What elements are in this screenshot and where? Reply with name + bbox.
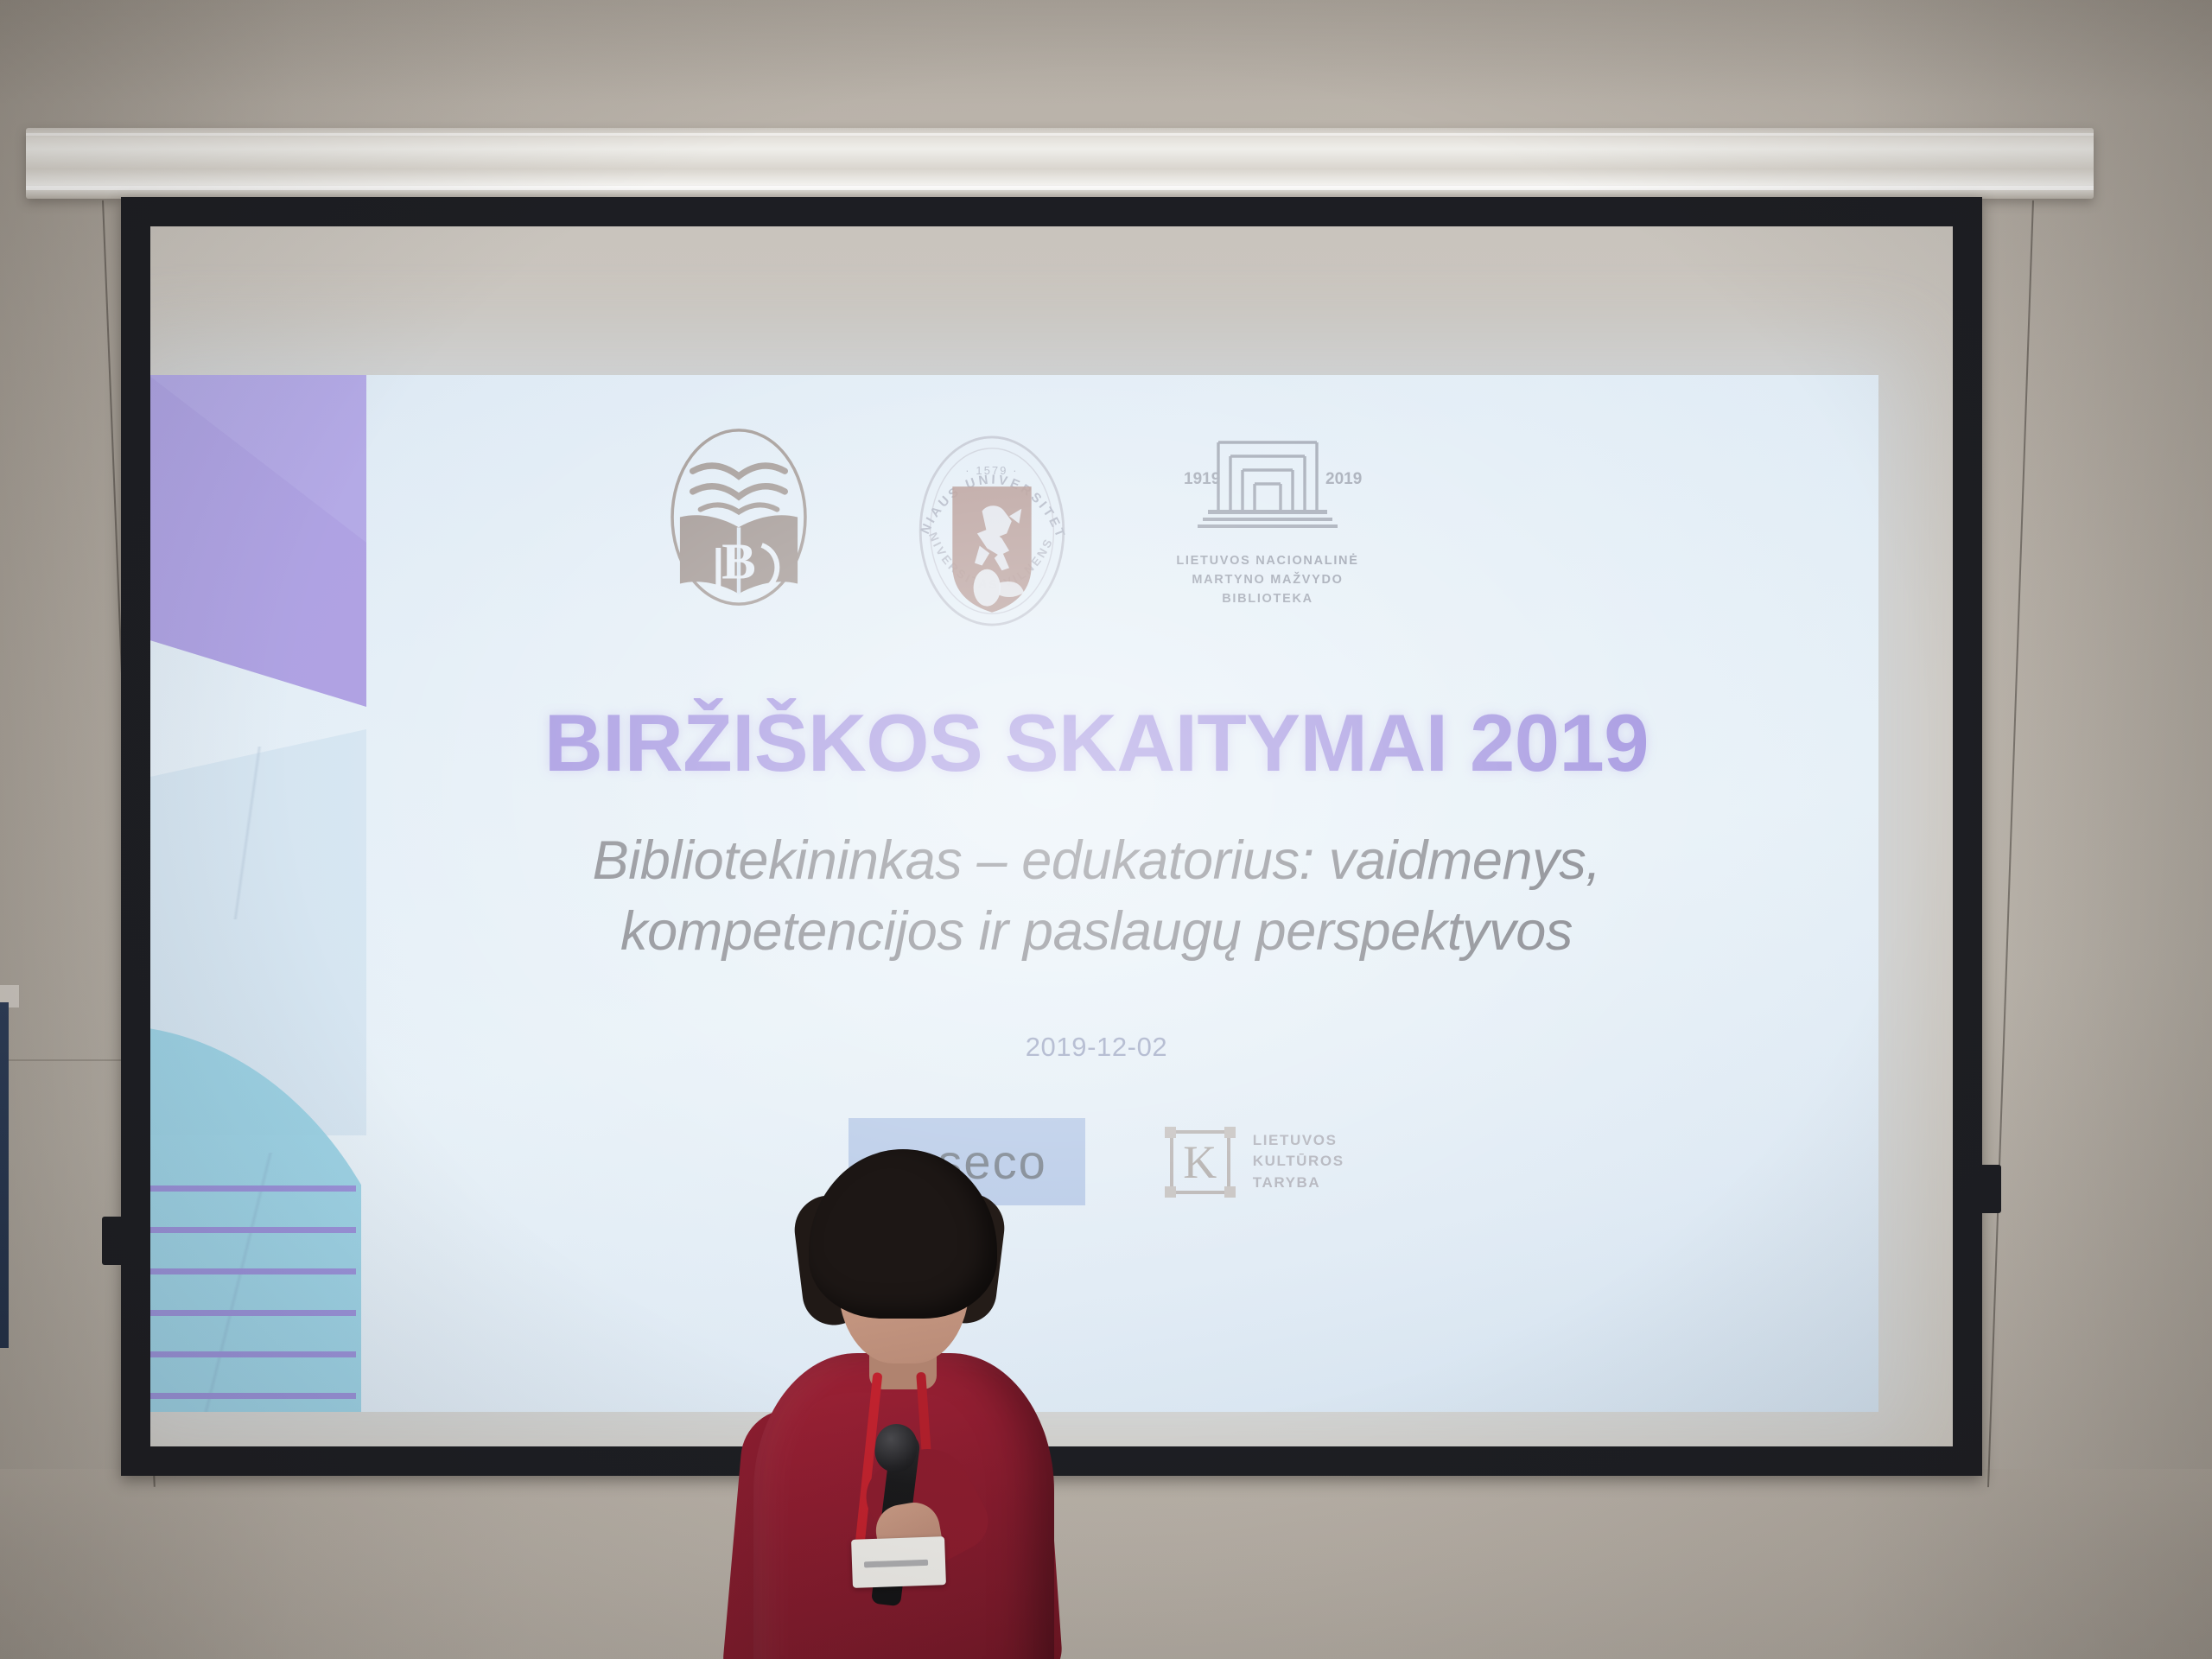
conference-room-photo: B: [0, 0, 2212, 1659]
wall-lower-band: [0, 1469, 2212, 1659]
svg-text:· 1579 ·: · 1579 ·: [965, 464, 1018, 477]
slide-subtitle-line1: Bibliotekininkas – edukatorius: vaidmeny…: [384, 826, 1809, 897]
slide-sponsor-row: asseco K: [366, 1118, 1827, 1205]
lkt-caption: LIETUVOS KULTŪROS TARYBA: [1253, 1130, 1344, 1194]
housing-highlight-bottom: [26, 186, 2094, 190]
speaker-name-badge: [851, 1536, 946, 1588]
nlb-caption-line1: LIETUVOS NACIONALINĖ: [1168, 551, 1367, 570]
nlb-year-right: 2019: [1325, 470, 1362, 488]
vilnius-university-seal-icon: VILNIAUS UNIVERSITETAS UNIVERSITAS VILNE…: [906, 420, 1078, 642]
national-library-caption: LIETUVOS NACIONALINĖ MARTYNO MAŽVYDO BIB…: [1168, 551, 1367, 608]
svg-text:B: B: [721, 533, 755, 590]
slide-logo-row: B: [150, 420, 1878, 646]
nlb-caption-line2: MARTYNO MAŽVYDO: [1168, 570, 1367, 589]
slide-subtitle: Bibliotekininkas – edukatorius: vaidmeny…: [384, 826, 1809, 968]
national-library-logo: 1919 2019 LIETUVOS NACIONALINĖ MARTYNO M…: [1168, 420, 1367, 608]
door-edge-sliver: [0, 1002, 9, 1348]
slide-subtitle-line2: kompetencijos ir paslaugų perspektyvos: [384, 897, 1809, 968]
national-library-icon: 1919 2019: [1168, 420, 1367, 541]
vilnius-university-seal-logo: VILNIAUS UNIVERSITETAS UNIVERSITAS VILNE…: [906, 420, 1078, 646]
lkt-letter-k: K: [1165, 1127, 1236, 1198]
speaker-person: [709, 1149, 1080, 1659]
nlb-caption-line3: BIBLIOTEKA: [1168, 589, 1367, 608]
decoration-stripes: [150, 1179, 356, 1412]
lkt-caption-line3: TARYBA: [1253, 1173, 1344, 1194]
slide-date: 2019-12-02: [366, 1032, 1827, 1063]
projector-screen-housing: [26, 128, 2094, 199]
lkt-bracket-mark-icon: K: [1165, 1127, 1236, 1198]
nlb-year-left: 1919: [1184, 470, 1220, 488]
lkt-caption-line1: LIETUVOS: [1253, 1130, 1344, 1152]
slide-title: BIRŽIŠKOS SKAITYMAI 2019: [366, 696, 1827, 790]
vdb-emblem-icon: B: [662, 420, 816, 612]
vdb-emblem-logo: B: [662, 420, 816, 616]
screen-cable-right: [1987, 200, 2034, 1487]
speaker-hair: [809, 1149, 997, 1319]
decoration-pale-line: [150, 747, 366, 919]
lietuvos-kulturos-taryba-logo: K LIETUVOS KULTŪROS TARYBA: [1165, 1127, 1344, 1198]
frame-tab-right: [1979, 1165, 2001, 1213]
lkt-caption-line2: KULTŪROS: [1253, 1151, 1344, 1173]
frame-tab-left: [102, 1217, 124, 1265]
housing-highlight-top: [26, 133, 2094, 136]
ceiling-shading: [0, 0, 2212, 104]
